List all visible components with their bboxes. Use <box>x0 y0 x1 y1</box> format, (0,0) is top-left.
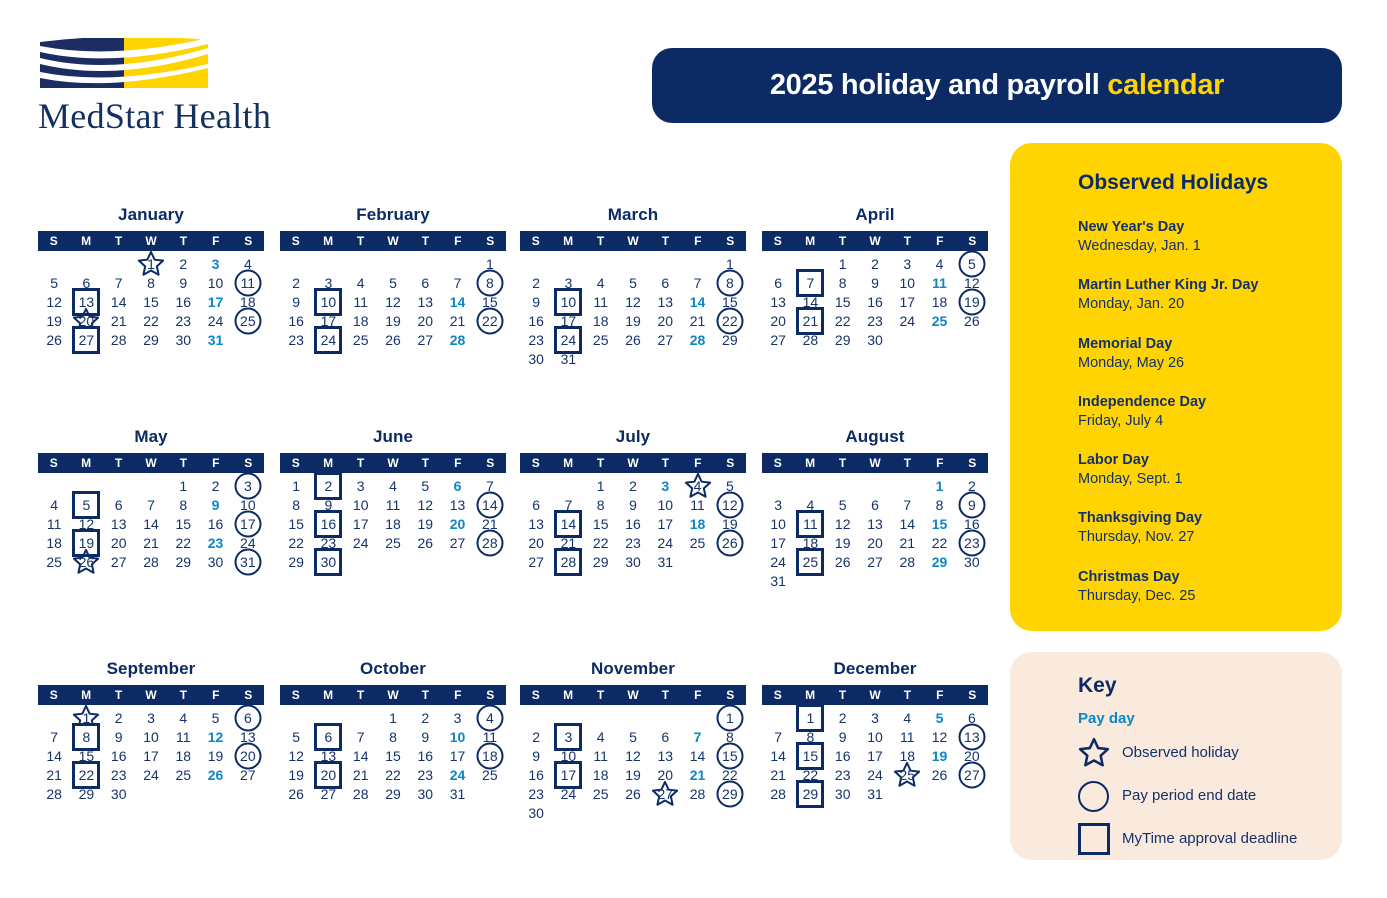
day-number: 25 <box>482 768 498 782</box>
day-number: 17 <box>867 749 883 763</box>
day-cell: 13 <box>762 292 794 311</box>
day-number: 23 <box>288 333 304 347</box>
day-cell: 14 <box>762 746 794 765</box>
day-number: 9 <box>325 498 333 512</box>
weekday-header-cell: W <box>135 231 166 251</box>
day-cell: 18 <box>794 533 826 552</box>
day-number: 12 <box>79 517 95 531</box>
day-number: 18 <box>175 749 191 763</box>
observed-holiday-date: Monday, May 26 <box>1078 354 1328 373</box>
observed-holiday-item: Thanksgiving DayThursday, Nov. 27 <box>1078 509 1328 547</box>
weekday-header-cell: S <box>38 231 69 251</box>
day-cell: 31 <box>441 784 473 803</box>
day-cell: 15 <box>474 292 506 311</box>
day-cell: 6 <box>441 476 473 495</box>
day-number: 21 <box>770 768 786 782</box>
day-number: 18 <box>593 768 609 782</box>
day-cell: 3 <box>891 254 923 273</box>
day-cell: 23 <box>199 533 231 552</box>
day-cell: 15 <box>70 746 102 765</box>
day-number: 26 <box>417 536 433 550</box>
day-number: 6 <box>968 711 976 725</box>
day-number: 24 <box>450 768 466 782</box>
days-grid: 1234567891011121314151617181920212223242… <box>38 476 264 571</box>
month-april: AprilSMTWTFS1234567891011121314151617181… <box>762 205 988 349</box>
day-number: 22 <box>835 314 851 328</box>
day-cell: 21 <box>891 533 923 552</box>
weekday-header-cell: F <box>682 685 713 705</box>
day-number: 2 <box>179 257 187 271</box>
day-cell: 1 <box>585 476 617 495</box>
day-number: 17 <box>143 749 159 763</box>
weekday-header-cell: S <box>475 685 506 705</box>
day-cell: 5 <box>827 495 859 514</box>
weekday-header-cell: S <box>280 685 311 705</box>
day-cell: 24 <box>312 330 344 349</box>
day-number: 27 <box>657 787 673 801</box>
day-number: 24 <box>240 536 256 550</box>
day-cell: 1 <box>280 476 312 495</box>
day-cell-empty <box>681 254 713 273</box>
day-cell: 22 <box>135 311 167 330</box>
day-cell: 16 <box>280 311 312 330</box>
weekday-header-cell: F <box>924 231 955 251</box>
day-number: 11 <box>900 730 915 744</box>
day-number: 11 <box>241 276 256 290</box>
day-number: 12 <box>208 730 224 744</box>
day-cell: 20 <box>649 765 681 784</box>
day-number: 30 <box>417 787 433 801</box>
day-number: 23 <box>528 333 544 347</box>
observed-holidays-panel: Observed Holidays New Year's DayWednesda… <box>1010 143 1342 631</box>
day-number: 30 <box>321 555 337 569</box>
day-number: 11 <box>483 730 498 744</box>
day-number: 7 <box>903 498 911 512</box>
day-number: 1 <box>839 257 847 271</box>
day-cell: 21 <box>762 765 794 784</box>
day-number: 29 <box>175 555 191 569</box>
day-cell: 15 <box>280 514 312 533</box>
day-cell: 24 <box>345 533 377 552</box>
day-number: 29 <box>79 787 95 801</box>
day-cell: 10 <box>312 292 344 311</box>
day-cell-empty <box>103 476 135 495</box>
day-cell: 22 <box>70 765 102 784</box>
day-number: 26 <box>964 314 980 328</box>
day-cell: 3 <box>199 254 231 273</box>
day-cell: 5 <box>617 727 649 746</box>
day-cell: 30 <box>827 784 859 803</box>
weekday-header-cell: S <box>233 685 264 705</box>
day-number: 3 <box>565 276 573 290</box>
day-number: 22 <box>932 536 948 550</box>
day-number: 16 <box>111 749 127 763</box>
observed-holiday-item: Martin Luther King Jr. DayMonday, Jan. 2… <box>1078 276 1328 314</box>
weekday-header-row: SMTWTFS <box>38 231 264 251</box>
day-cell: 18 <box>232 292 264 311</box>
day-cell: 2 <box>617 476 649 495</box>
day-cell: 15 <box>714 746 746 765</box>
day-cell: 4 <box>794 495 826 514</box>
day-number: 10 <box>143 730 159 744</box>
day-number: 8 <box>292 498 300 512</box>
day-number: 14 <box>690 749 706 763</box>
day-number: 22 <box>722 768 738 782</box>
day-number: 30 <box>867 333 883 347</box>
day-cell: 29 <box>714 330 746 349</box>
day-cell: 9 <box>280 292 312 311</box>
weekday-header-cell: M <box>552 685 583 705</box>
day-number: 16 <box>528 314 544 328</box>
weekday-header-row: SMTWTFS <box>762 231 988 251</box>
day-number: 18 <box>690 517 706 531</box>
day-cell: 6 <box>649 273 681 292</box>
day-cell: 10 <box>891 273 923 292</box>
day-cell: 20 <box>520 533 552 552</box>
day-cell: 25 <box>585 330 617 349</box>
day-number: 21 <box>482 517 498 531</box>
day-cell: 2 <box>167 254 199 273</box>
day-number: 19 <box>722 517 738 531</box>
day-cell: 26 <box>377 330 409 349</box>
day-cell-empty <box>649 708 681 727</box>
day-number: 12 <box>835 517 851 531</box>
day-cell: 12 <box>280 746 312 765</box>
day-number: 25 <box>175 768 191 782</box>
day-number: 30 <box>208 555 224 569</box>
day-cell-empty <box>891 476 923 495</box>
day-cell: 3 <box>762 495 794 514</box>
day-cell: 11 <box>585 292 617 311</box>
weekday-header-cell: S <box>715 453 746 473</box>
day-number: 8 <box>83 730 91 744</box>
day-cell: 2 <box>520 727 552 746</box>
day-cell: 8 <box>923 495 955 514</box>
day-number: 3 <box>903 257 911 271</box>
day-cell: 25 <box>167 765 199 784</box>
day-cell: 16 <box>167 292 199 311</box>
day-number: 12 <box>417 498 433 512</box>
day-number: 14 <box>899 517 915 531</box>
day-number: 23 <box>208 536 224 550</box>
weekday-header-cell: S <box>957 685 988 705</box>
weekday-header-cell: W <box>377 453 408 473</box>
day-number: 18 <box>899 749 915 763</box>
day-number: 28 <box>899 555 915 569</box>
day-cell: 21 <box>135 533 167 552</box>
day-number: 28 <box>803 333 819 347</box>
day-cell: 20 <box>859 533 891 552</box>
day-cell: 22 <box>794 765 826 784</box>
day-number: 25 <box>932 314 948 328</box>
weekday-header-cell: T <box>585 685 616 705</box>
day-number: 9 <box>839 730 847 744</box>
observed-holiday-date: Friday, July 4 <box>1078 412 1328 431</box>
day-number: 13 <box>240 730 256 744</box>
weekday-header-cell: T <box>585 231 616 251</box>
weekday-header-cell: T <box>827 231 858 251</box>
observed-holiday-item: Memorial DayMonday, May 26 <box>1078 335 1328 373</box>
day-cell: 14 <box>441 292 473 311</box>
day-cell: 22 <box>827 311 859 330</box>
day-cell: 24 <box>649 533 681 552</box>
month-title: November <box>520 659 746 679</box>
day-number: 9 <box>532 749 540 763</box>
month-title: July <box>520 427 746 447</box>
day-cell: 15 <box>377 746 409 765</box>
day-cell: 9 <box>827 727 859 746</box>
day-number: 22 <box>722 314 738 328</box>
day-cell: 7 <box>103 273 135 292</box>
day-number: 9 <box>871 276 879 290</box>
day-number: 1 <box>147 257 155 271</box>
day-number: 29 <box>593 555 609 569</box>
day-cell: 7 <box>441 273 473 292</box>
day-cell: 11 <box>377 495 409 514</box>
day-number: 26 <box>835 555 851 569</box>
day-number: 25 <box>353 333 369 347</box>
day-cell: 15 <box>167 514 199 533</box>
day-cell: 30 <box>956 552 988 571</box>
day-number: 9 <box>179 276 187 290</box>
day-number: 6 <box>325 730 333 744</box>
day-cell: 7 <box>474 476 506 495</box>
day-cell: 28 <box>794 330 826 349</box>
observed-holiday-date: Wednesday, Jan. 1 <box>1078 237 1328 256</box>
day-number: 5 <box>212 711 220 725</box>
key-title: Key <box>1078 674 1117 698</box>
day-cell: 16 <box>520 765 552 784</box>
day-cell: 13 <box>956 727 988 746</box>
day-cell: 23 <box>312 533 344 552</box>
day-number: 30 <box>835 787 851 801</box>
day-cell: 21 <box>794 311 826 330</box>
day-cell: 19 <box>956 292 988 311</box>
weekday-header-cell: M <box>312 453 343 473</box>
day-cell: 26 <box>70 552 102 571</box>
day-cell: 21 <box>681 765 713 784</box>
day-cell: 3 <box>135 708 167 727</box>
day-cell: 15 <box>794 746 826 765</box>
page-title-accent: calendar <box>1107 69 1224 101</box>
key-circle-icon <box>1078 779 1122 813</box>
day-number: 26 <box>385 333 401 347</box>
day-cell: 7 <box>794 273 826 292</box>
day-cell: 20 <box>409 311 441 330</box>
day-number: 7 <box>807 276 815 290</box>
day-number: 13 <box>770 295 786 309</box>
day-number: 22 <box>803 768 819 782</box>
day-cell-empty <box>38 254 70 273</box>
day-number: 16 <box>867 295 883 309</box>
day-number: 10 <box>867 730 883 744</box>
day-cell: 29 <box>585 552 617 571</box>
weekday-header-cell: S <box>233 453 264 473</box>
day-number: 4 <box>807 498 815 512</box>
weekday-header-cell: S <box>715 685 746 705</box>
medstar-logo-mark <box>40 38 208 88</box>
day-cell: 1 <box>794 708 826 727</box>
day-number: 5 <box>968 257 976 271</box>
weekday-header-cell: W <box>617 231 648 251</box>
day-cell-empty <box>312 708 344 727</box>
day-number: 25 <box>240 314 256 328</box>
day-number: 4 <box>903 711 911 725</box>
day-number: 1 <box>292 479 300 493</box>
day-cell: 3 <box>345 476 377 495</box>
day-cell: 10 <box>199 273 231 292</box>
day-cell: 11 <box>794 514 826 533</box>
page-header: MedStar Health 2025 holiday and payroll … <box>0 0 1387 140</box>
day-cell: 8 <box>827 273 859 292</box>
day-cell-empty <box>859 476 891 495</box>
day-cell: 14 <box>135 514 167 533</box>
day-cell: 4 <box>38 495 70 514</box>
day-cell: 18 <box>585 765 617 784</box>
day-cell: 11 <box>345 292 377 311</box>
day-cell: 8 <box>714 727 746 746</box>
day-number: 17 <box>899 295 915 309</box>
day-cell: 26 <box>923 765 955 784</box>
day-cell: 2 <box>312 476 344 495</box>
day-cell: 31 <box>552 349 584 368</box>
day-number: 21 <box>450 314 466 328</box>
day-number: 16 <box>528 768 544 782</box>
day-number: 8 <box>726 276 734 290</box>
day-number: 15 <box>385 749 401 763</box>
day-number: 21 <box>561 536 577 550</box>
day-cell: 18 <box>474 746 506 765</box>
day-number: 7 <box>565 498 573 512</box>
day-cell: 6 <box>409 273 441 292</box>
day-number: 8 <box>389 730 397 744</box>
weekday-header-cell: T <box>345 685 376 705</box>
weekday-header-row: SMTWTFS <box>520 231 746 251</box>
day-cell: 12 <box>956 273 988 292</box>
day-number: 20 <box>450 517 466 531</box>
day-cell: 12 <box>923 727 955 746</box>
day-cell: 30 <box>103 784 135 803</box>
day-cell: 5 <box>956 254 988 273</box>
day-cell: 29 <box>167 552 199 571</box>
day-number: 11 <box>176 730 191 744</box>
day-number: 12 <box>722 498 738 512</box>
day-number: 24 <box>143 768 159 782</box>
day-cell: 20 <box>441 514 473 533</box>
day-cell: 22 <box>714 765 746 784</box>
day-number: 27 <box>450 536 466 550</box>
day-number: 30 <box>175 333 191 347</box>
day-cell: 7 <box>552 495 584 514</box>
day-number: 6 <box>421 276 429 290</box>
day-number: 23 <box>835 768 851 782</box>
day-number: 9 <box>212 498 220 512</box>
day-number: 2 <box>839 711 847 725</box>
page-title-main: 2025 holiday and payroll <box>770 69 1107 101</box>
day-number: 19 <box>79 536 95 550</box>
day-cell: 28 <box>762 784 794 803</box>
day-number: 2 <box>292 276 300 290</box>
day-number: 27 <box>528 555 544 569</box>
day-cell: 31 <box>762 571 794 590</box>
day-cell: 10 <box>552 292 584 311</box>
day-cell: 5 <box>617 273 649 292</box>
day-number: 1 <box>179 479 187 493</box>
days-grid: 1234567891011121314151617181920212223242… <box>762 476 988 590</box>
day-cell: 31 <box>232 552 264 571</box>
day-number: 3 <box>774 498 782 512</box>
day-cell: 2 <box>520 273 552 292</box>
day-cell: 1 <box>70 708 102 727</box>
day-number: 8 <box>179 498 187 512</box>
weekday-header-cell: T <box>410 685 441 705</box>
day-cell: 26 <box>409 533 441 552</box>
day-cell: 24 <box>552 784 584 803</box>
day-cell: 26 <box>617 784 649 803</box>
weekday-header-cell: S <box>475 453 506 473</box>
day-cell-empty <box>103 254 135 273</box>
day-number: 24 <box>867 768 883 782</box>
weekday-header-cell: W <box>135 453 166 473</box>
day-number: 10 <box>561 295 577 309</box>
day-cell: 2 <box>103 708 135 727</box>
day-cell: 1 <box>827 254 859 273</box>
day-cell: 15 <box>714 292 746 311</box>
day-cell: 3 <box>441 708 473 727</box>
day-cell: 19 <box>617 765 649 784</box>
day-number: 30 <box>111 787 127 801</box>
day-number: 14 <box>561 517 577 531</box>
days-grid: 1234567891011121314151617181920212223242… <box>520 254 746 368</box>
day-cell: 5 <box>409 476 441 495</box>
day-number: 28 <box>353 787 369 801</box>
weekday-header-cell: W <box>617 453 648 473</box>
day-cell: 14 <box>891 514 923 533</box>
weekday-header-cell: F <box>924 685 955 705</box>
day-number: 17 <box>353 517 369 531</box>
day-number: 5 <box>389 276 397 290</box>
day-cell-empty <box>649 254 681 273</box>
day-number: 20 <box>417 314 433 328</box>
day-number: 11 <box>803 517 818 531</box>
day-number: 28 <box>770 787 786 801</box>
month-march: MarchSMTWTFS1234567891011121314151617181… <box>520 205 746 368</box>
day-cell: 11 <box>681 495 713 514</box>
weekday-header-cell: T <box>827 685 858 705</box>
day-cell: 17 <box>199 292 231 311</box>
days-grid: 1234567891011121314151617181920212223242… <box>762 254 988 349</box>
day-number: 25 <box>593 787 609 801</box>
weekday-header-cell: T <box>410 453 441 473</box>
day-cell: 16 <box>409 746 441 765</box>
day-number: 11 <box>593 295 608 309</box>
day-cell: 1 <box>474 254 506 273</box>
day-number: 30 <box>528 806 544 820</box>
day-number: 16 <box>208 517 224 531</box>
day-cell: 13 <box>649 746 681 765</box>
day-cell: 24 <box>552 330 584 349</box>
day-number: 14 <box>450 295 466 309</box>
days-grid: 1234567891011121314151617181920212223242… <box>280 476 506 571</box>
day-cell: 10 <box>135 727 167 746</box>
day-number: 20 <box>964 749 980 763</box>
day-number: 3 <box>357 479 365 493</box>
day-cell-empty <box>409 254 441 273</box>
day-number: 1 <box>486 257 494 271</box>
weekday-header-row: SMTWTFS <box>520 685 746 705</box>
day-cell: 5 <box>714 476 746 495</box>
weekday-header-cell: T <box>650 453 681 473</box>
